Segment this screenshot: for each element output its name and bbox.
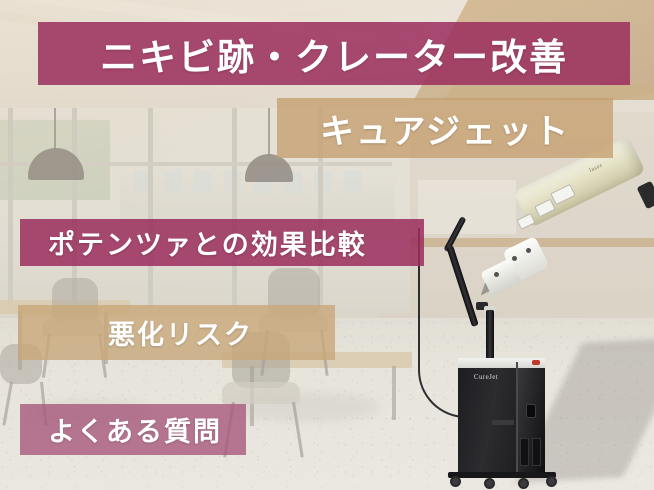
handpiece-screw — [512, 256, 517, 261]
handpiece-logo: laser — [589, 163, 604, 174]
cart-base — [448, 472, 556, 478]
cart-drawer[interactable] — [492, 420, 514, 425]
caster-wheel — [484, 478, 495, 489]
caster-wheel — [450, 476, 461, 487]
cart-handle[interactable] — [526, 404, 536, 418]
handpiece-screw — [494, 272, 499, 277]
caster-wheel — [518, 478, 529, 489]
caster-wheel — [546, 476, 557, 487]
cart-seam — [516, 362, 518, 474]
banner-label-faq: よくある質問 — [48, 410, 222, 449]
banner-box-cure-jet: キュアジェット — [277, 98, 613, 158]
banner-box-acne-scar-improvement: ニキビ跡・クレーター改善 — [38, 22, 630, 85]
banner-box-faq: よくある質問 — [20, 404, 246, 455]
cart-slot — [532, 438, 541, 466]
banner-label-acne-scar-improvement: ニキビ跡・クレーター改善 — [100, 27, 568, 81]
banner-label-cure-jet: キュアジェット — [320, 104, 570, 153]
banner-box-worsening-risk: 悪化リスク — [18, 305, 335, 360]
arm-column — [486, 310, 494, 362]
laser-machine: CureJet laser — [400, 180, 654, 490]
banner-box-potenza-comparison: ポテンツァとの効果比較 — [20, 219, 424, 266]
banner-label-worsening-risk: 悪化リスク — [108, 313, 253, 352]
handpiece-screw — [526, 248, 531, 253]
cart-logo: CureJet — [468, 372, 504, 382]
promo-banner: CureJet laser ニキビ跡・クレーター改善 キュアジェット ポテンツァ… — [0, 0, 654, 490]
power-button[interactable] — [532, 360, 540, 365]
cart-slot — [520, 438, 529, 466]
handpiece-tail — [637, 181, 654, 210]
banner-label-potenza-comparison: ポテンツァとの効果比較 — [48, 223, 367, 262]
